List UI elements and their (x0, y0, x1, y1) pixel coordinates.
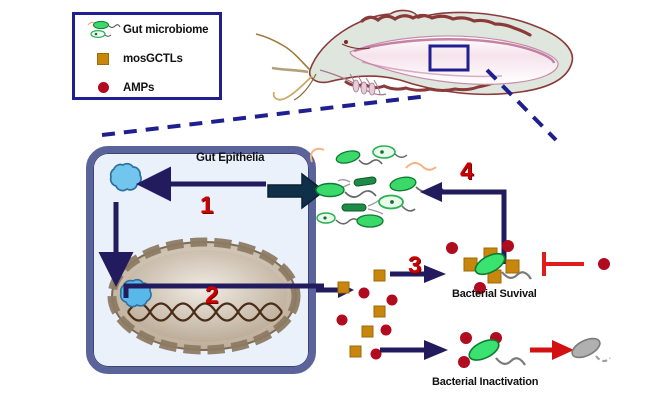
amp-circle (458, 356, 470, 368)
amp-circle (337, 315, 348, 326)
step-number-1: 1 (200, 192, 213, 220)
callout-line-right (487, 70, 556, 140)
bacterial-inactivation-group (380, 330, 600, 382)
amp-circle (460, 332, 472, 344)
step-number-3: 3 (408, 252, 421, 280)
step-number-2: 2 (205, 282, 218, 310)
step-number-4: 4 (460, 158, 473, 186)
mosgctl-square (374, 270, 385, 281)
mosgctl-square (338, 282, 349, 293)
mosgctl-square (374, 306, 385, 317)
mosgctl-square (350, 346, 361, 357)
signal-molecule-top (111, 164, 141, 191)
blocked-amp (598, 258, 610, 270)
inhibition-bar-icon (544, 252, 584, 276)
callout-line-left (102, 96, 428, 135)
bacterial-inactivation-label: Bacterial Inactivation (432, 376, 538, 388)
mosgctl-square (362, 326, 373, 337)
amp-circle (387, 295, 398, 306)
amp-circle (359, 288, 370, 299)
bacterial-survival-label: Bacterial Suvival (452, 288, 537, 300)
